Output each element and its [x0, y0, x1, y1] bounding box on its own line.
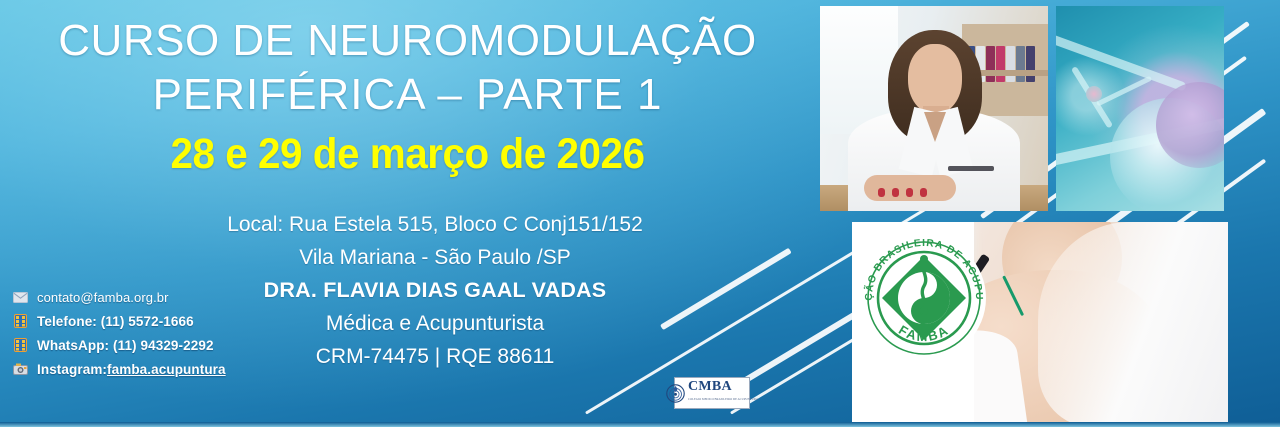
contact-row-phone[interactable]: Telefone: (11) 5572-1666	[12, 310, 226, 332]
speaker-registration: CRM-74475 | RQE 88611	[150, 340, 720, 373]
contact-instagram-handle[interactable]: famba.acupuntura	[107, 362, 226, 377]
event-banner: CURSO DE NEUROMODULAÇÃO PERIFÉRICA – PAR…	[0, 0, 1280, 427]
bottom-accent-strip	[0, 422, 1280, 427]
speaker-role: Médica e Acupunturista	[150, 307, 720, 340]
cmba-logo: CMBA COLEGIO MEDICO BRASILEIRO DE ACUPUN…	[674, 377, 750, 409]
famba-seal-svg: FUNDAÇÃO BRASILEIRA DE ACUPUNTURA FAMBA	[854, 228, 994, 368]
speaker-name: DRA. FLAVIA DIAS GAAL VADAS	[150, 274, 720, 307]
headline-block: CURSO DE NEUROMODULAÇÃO PERIFÉRICA – PAR…	[0, 14, 815, 180]
event-details-block: Local: Rua Estela 515, Bloco C Conj151/1…	[150, 208, 720, 373]
course-title-line-2: PERIFÉRICA – PARTE 1	[0, 68, 815, 122]
cmba-logo-subtitle: COLEGIO MEDICO BRASILEIRO DE ACUPUNTURA	[688, 393, 758, 405]
whatsapp-icon	[12, 338, 29, 352]
contact-list: contato@famba.org.br Telefone: (11) 5572…	[12, 286, 226, 382]
contact-phone-text: Telefone: (11) 5572-1666	[37, 314, 194, 329]
course-title-line-1: CURSO DE NEUROMODULAÇÃO	[0, 14, 815, 68]
contact-row-email[interactable]: contato@famba.org.br	[12, 286, 226, 308]
contact-whatsapp-text: WhatsApp: (11) 94329-2292	[37, 338, 214, 353]
cmba-logo-text: CMBA COLEGIO MEDICO BRASILEIRO DE ACUPUN…	[688, 381, 758, 405]
cmba-logo-title: CMBA	[688, 379, 732, 394]
phone-icon	[12, 314, 29, 328]
cmba-emblem-icon	[666, 384, 685, 403]
doctor-portrait-photo	[820, 6, 1048, 211]
famba-seal-logo: FUNDAÇÃO BRASILEIRA DE ACUPUNTURA FAMBA	[854, 228, 994, 368]
venue-city: Vila Mariana - São Paulo /SP	[150, 241, 720, 274]
instagram-icon	[12, 362, 29, 376]
contact-row-whatsapp[interactable]: WhatsApp: (11) 94329-2292	[12, 334, 226, 356]
neuron-synapse-photo	[1056, 6, 1224, 211]
contact-instagram-label: Instagram:	[37, 362, 107, 377]
event-date: 28 e 29 de março de 2026	[24, 128, 790, 180]
contact-row-instagram[interactable]: Instagram: famba.acupuntura	[12, 358, 226, 380]
envelope-icon	[12, 290, 29, 304]
venue-address: Local: Rua Estela 515, Bloco C Conj151/1…	[150, 208, 720, 241]
contact-email-text: contato@famba.org.br	[37, 290, 169, 305]
